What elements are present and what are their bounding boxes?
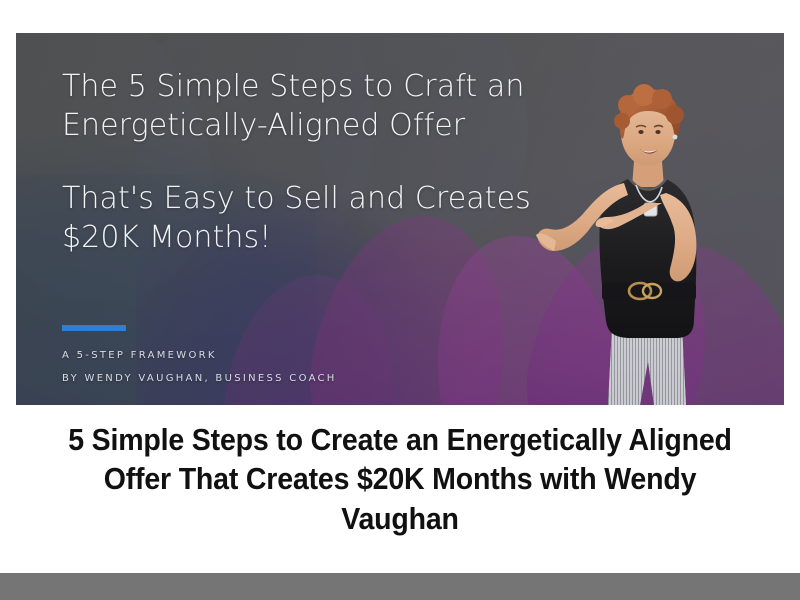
hero-copy-block: The 5 Simple Steps to Craft an Energetic… [62,67,562,257]
bottom-bar [0,573,800,600]
video-title-caption: 5 Simple Steps to Create an Energeticall… [50,420,749,538]
presenter-photo [536,75,746,405]
hero-thumbnail-image[interactable]: The 5 Simple Steps to Craft an Energetic… [16,33,784,405]
accent-bar [62,325,126,331]
hero-kicker-framework: A 5-Step Framework [62,345,522,368]
hero-kicker-block: A 5-Step Framework By Wendy Vaughan, Bus… [62,345,522,390]
hero-headline-primary: The 5 Simple Steps to Craft an Energetic… [62,67,562,145]
hero-headline-secondary: That's Easy to Sell and Creates $20K Mon… [62,179,562,257]
hero-kicker-byline: By Wendy Vaughan, Business Coach [62,368,522,391]
page-root: The 5 Simple Steps to Craft an Energetic… [0,0,800,600]
